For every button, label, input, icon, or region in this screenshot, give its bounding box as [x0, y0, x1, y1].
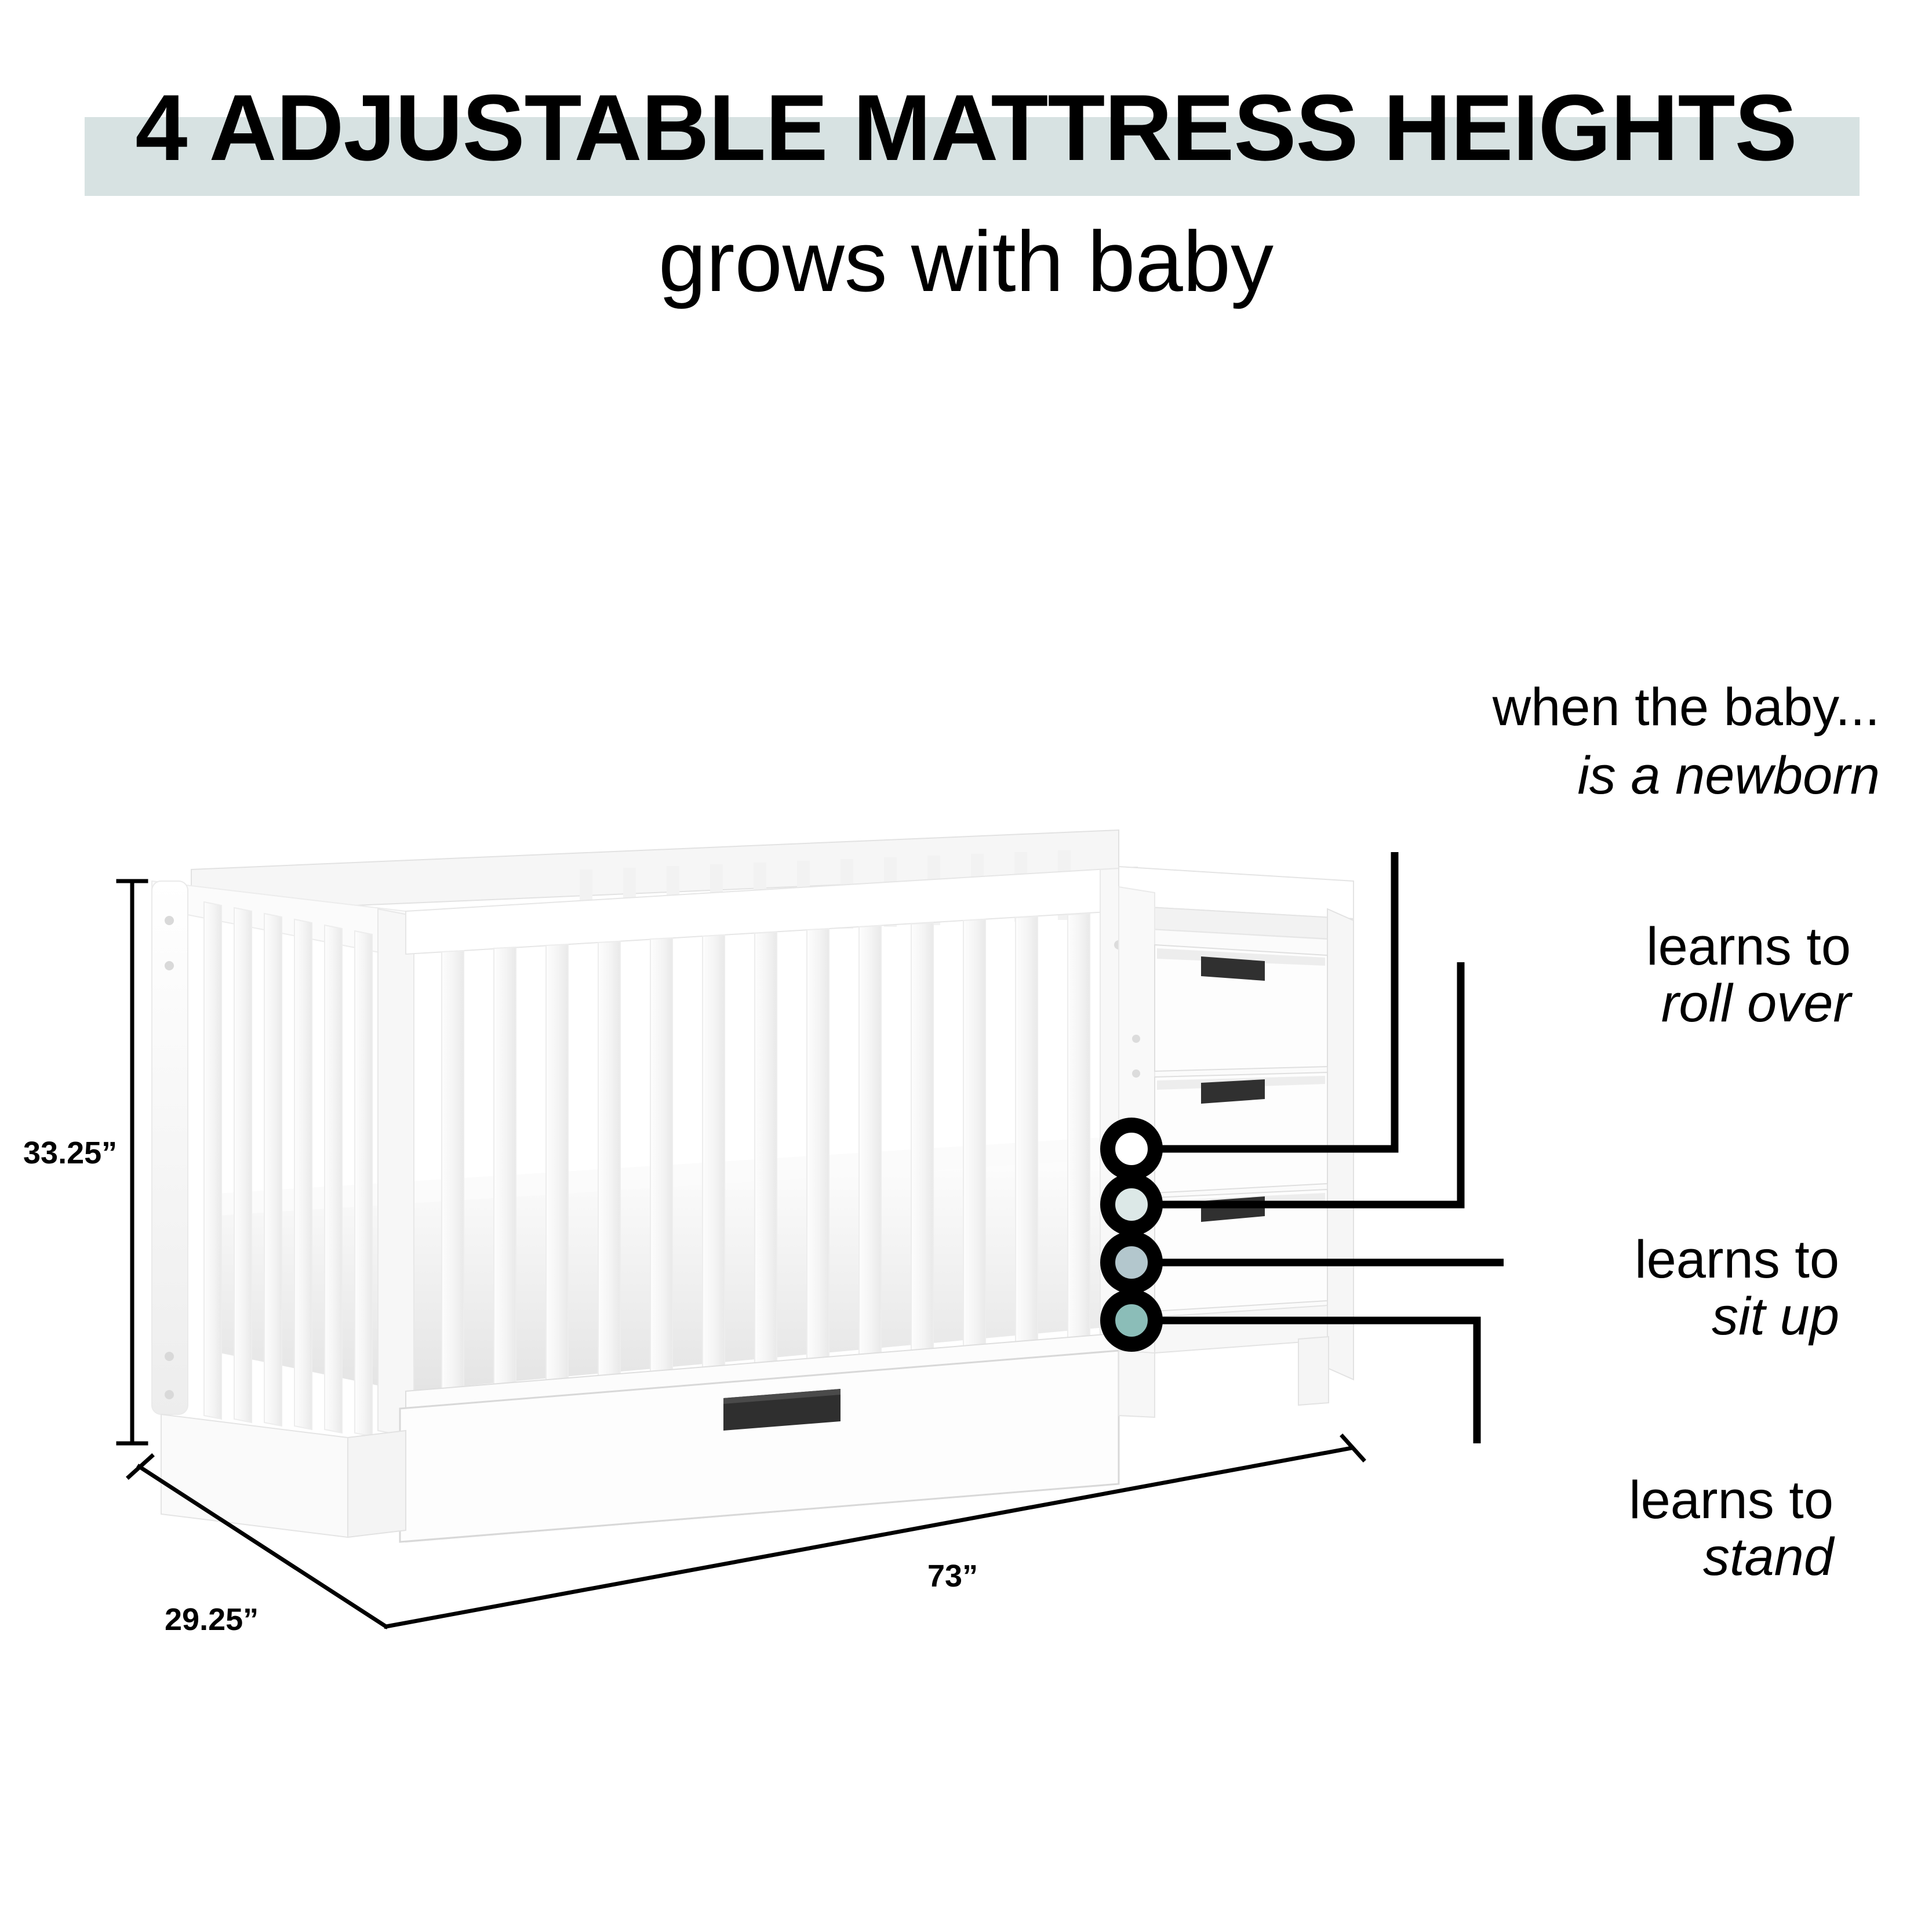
- mattress-dot-1: [1108, 1125, 1155, 1173]
- callout-heading: when the baby...: [1493, 677, 1880, 738]
- dimension-label-depth: 29.25”: [165, 1602, 259, 1638]
- leader-line-rollover: [1157, 962, 1461, 1205]
- mattress-height-dots: [1108, 1125, 1155, 1344]
- callout-rollover-emph: roll over: [1646, 976, 1851, 1032]
- crib-left-end-panel: [152, 881, 414, 1438]
- page-title: 4 ADJUSTABLE MATTRESS HEIGHTS: [0, 81, 1932, 175]
- crib-and-changer-group: [152, 830, 1354, 1542]
- dimension-label-height: 33.25”: [23, 1135, 117, 1171]
- callout-stand-emph: stand: [1629, 1529, 1833, 1586]
- mattress-dot-2: [1108, 1181, 1155, 1228]
- leader-line-stand: [1157, 1320, 1477, 1443]
- dimension-line-width: [386, 1448, 1352, 1627]
- changer-dresser-unit: [1119, 867, 1354, 1417]
- crib-back-rail: [191, 830, 1119, 939]
- callout-rollover: learns to roll over: [1646, 919, 1851, 1032]
- callout-newborn: is a newborn: [1577, 748, 1880, 805]
- page-subtitle: grows with baby: [0, 219, 1932, 305]
- infographic-canvas: 4 ADJUSTABLE MATTRESS HEIGHTS grows with…: [0, 0, 1932, 1932]
- callout-stand: learns to stand: [1629, 1472, 1833, 1585]
- mattress-dot-3: [1108, 1239, 1155, 1286]
- callout-situp: learns to sit up: [1635, 1232, 1839, 1345]
- callout-situp-emph: sit up: [1635, 1289, 1839, 1345]
- under-crib-storage-drawer: [161, 1333, 1119, 1542]
- callout-stand-lead: learns to: [1629, 1472, 1833, 1529]
- mattress-dot-4: [1108, 1297, 1155, 1344]
- callout-rollover-lead: learns to: [1646, 919, 1851, 976]
- crib-front-side: [406, 867, 1137, 1449]
- dimension-label-width: 73”: [927, 1558, 978, 1594]
- leader-line-newborn: [1157, 852, 1395, 1149]
- callout-newborn-emph: is a newborn: [1577, 748, 1880, 805]
- crib-mattress: [209, 1137, 1104, 1391]
- callout-situp-lead: learns to: [1635, 1232, 1839, 1289]
